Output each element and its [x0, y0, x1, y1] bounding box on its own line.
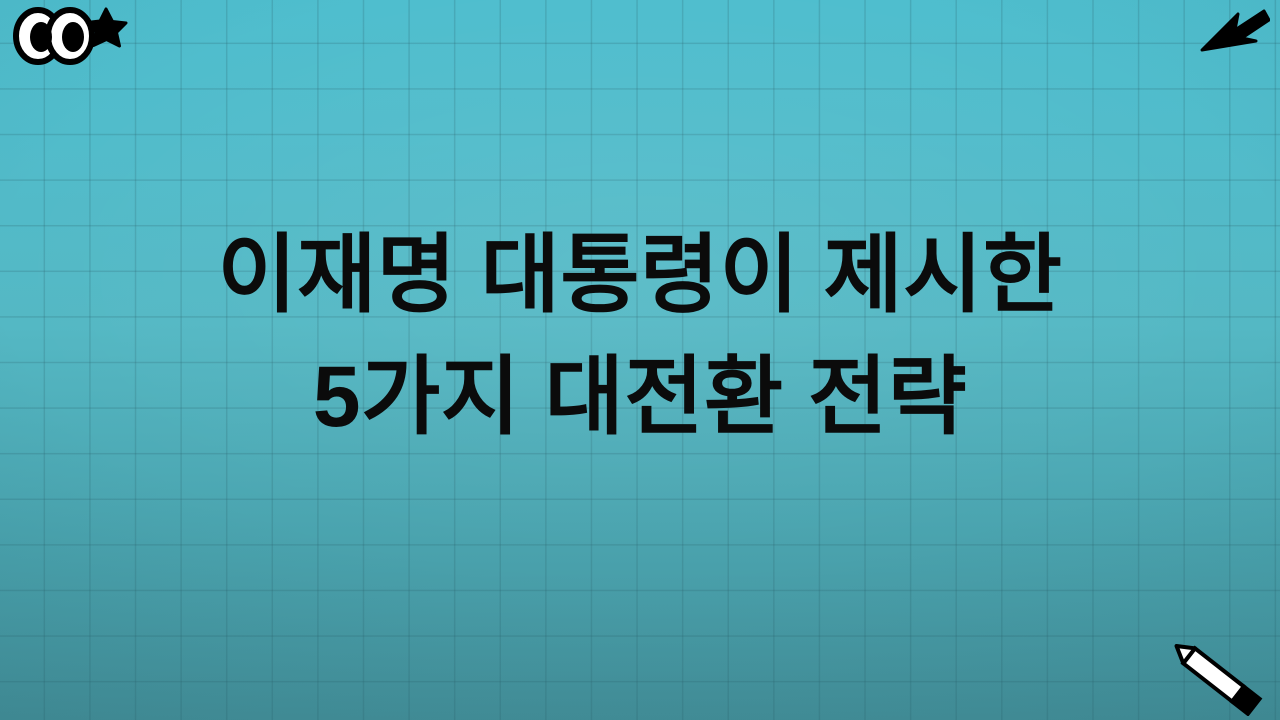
page-title: 이재명 대통령이 제시한 5가지 대전환 전략	[0, 214, 1280, 458]
star-icon	[84, 6, 128, 48]
title-line-2: 5가지 대전환 전략	[40, 336, 1240, 458]
thumbnail-canvas: 이재명 대통령이 제시한 5가지 대전환 전략	[0, 0, 1280, 720]
pencil-icon	[1162, 638, 1272, 716]
title-line-1: 이재명 대통령이 제시한	[40, 214, 1240, 336]
arrow-icon	[1198, 6, 1270, 58]
